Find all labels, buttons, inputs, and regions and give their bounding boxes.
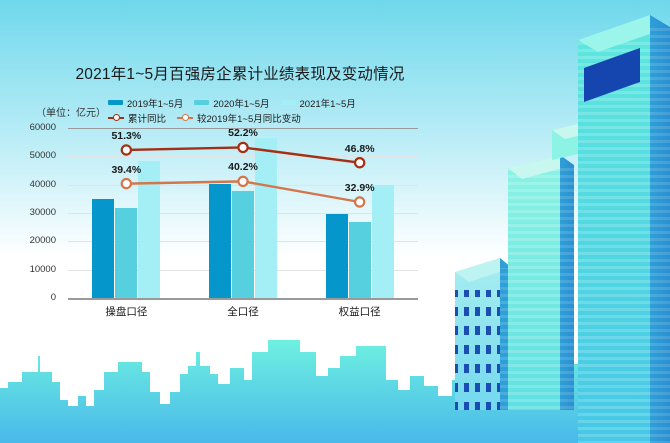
ytick-50000: 50000 <box>0 150 56 161</box>
datalabel-yoy-2: 46.8% <box>345 143 375 155</box>
chart-container: 2021年1~5月百强房企累计业绩表现及变动情况 （单位：亿元） 2019年1~… <box>0 0 460 330</box>
datalabel-vs2019-1: 40.2% <box>228 161 258 173</box>
datalabel-vs2019-0: 39.4% <box>111 164 141 176</box>
tower-main <box>578 15 670 443</box>
screenshot-stage: 2021年1~5月百强房企累计业绩表现及变动情况 （单位：亿元） 2019年1~… <box>0 0 670 443</box>
datalabel-yoy-0: 51.3% <box>111 130 141 142</box>
xlabel-2: 权益口径 <box>301 304 418 319</box>
xlabel-1: 全口径 <box>185 304 302 319</box>
plot-area: 60000 50000 40000 30000 20000 10000 0 <box>68 128 418 298</box>
ytick-30000: 30000 <box>0 207 56 218</box>
tower-small <box>455 258 512 410</box>
xlabel-0: 操盘口径 <box>68 304 185 319</box>
ytick-0: 0 <box>0 292 56 303</box>
ytick-60000: 60000 <box>0 122 56 133</box>
ytick-10000: 10000 <box>0 264 56 275</box>
ytick-20000: 20000 <box>0 235 56 246</box>
ytick-40000: 40000 <box>0 179 56 190</box>
datalabel-yoy-1: 52.2% <box>228 127 258 139</box>
datalabel-vs2019-2: 32.9% <box>345 182 375 194</box>
